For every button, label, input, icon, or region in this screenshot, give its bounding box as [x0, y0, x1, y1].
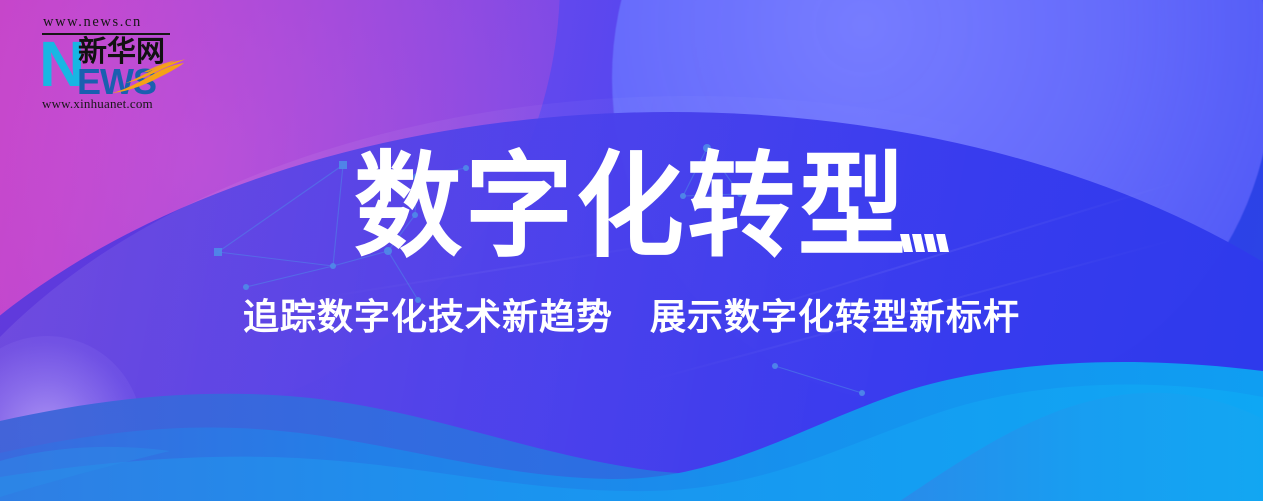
headline-container: 数字化转型 — [0, 150, 1263, 266]
logo-bottom-url: www.xinhuanet.com — [42, 96, 153, 112]
page-title: 数字化转型 — [354, 147, 909, 270]
page-subtitle: 追踪数字化技术新趋势 展示数字化转型新标杆 — [243, 295, 1020, 341]
xinhuanet-logo[interactable]: www.news.cn N 新华网 EWS www.xinhuanet.com — [34, 14, 182, 111]
speed-dashes-icon — [900, 226, 960, 256]
banner-root: www.news.cn N 新华网 EWS www.xinhuanet.com … — [0, 0, 1263, 501]
subtitle-container: 追踪数字化技术新趋势 展示数字化转型新标杆 — [0, 295, 1263, 341]
orange-brush-swoosh-icon — [110, 57, 186, 99]
